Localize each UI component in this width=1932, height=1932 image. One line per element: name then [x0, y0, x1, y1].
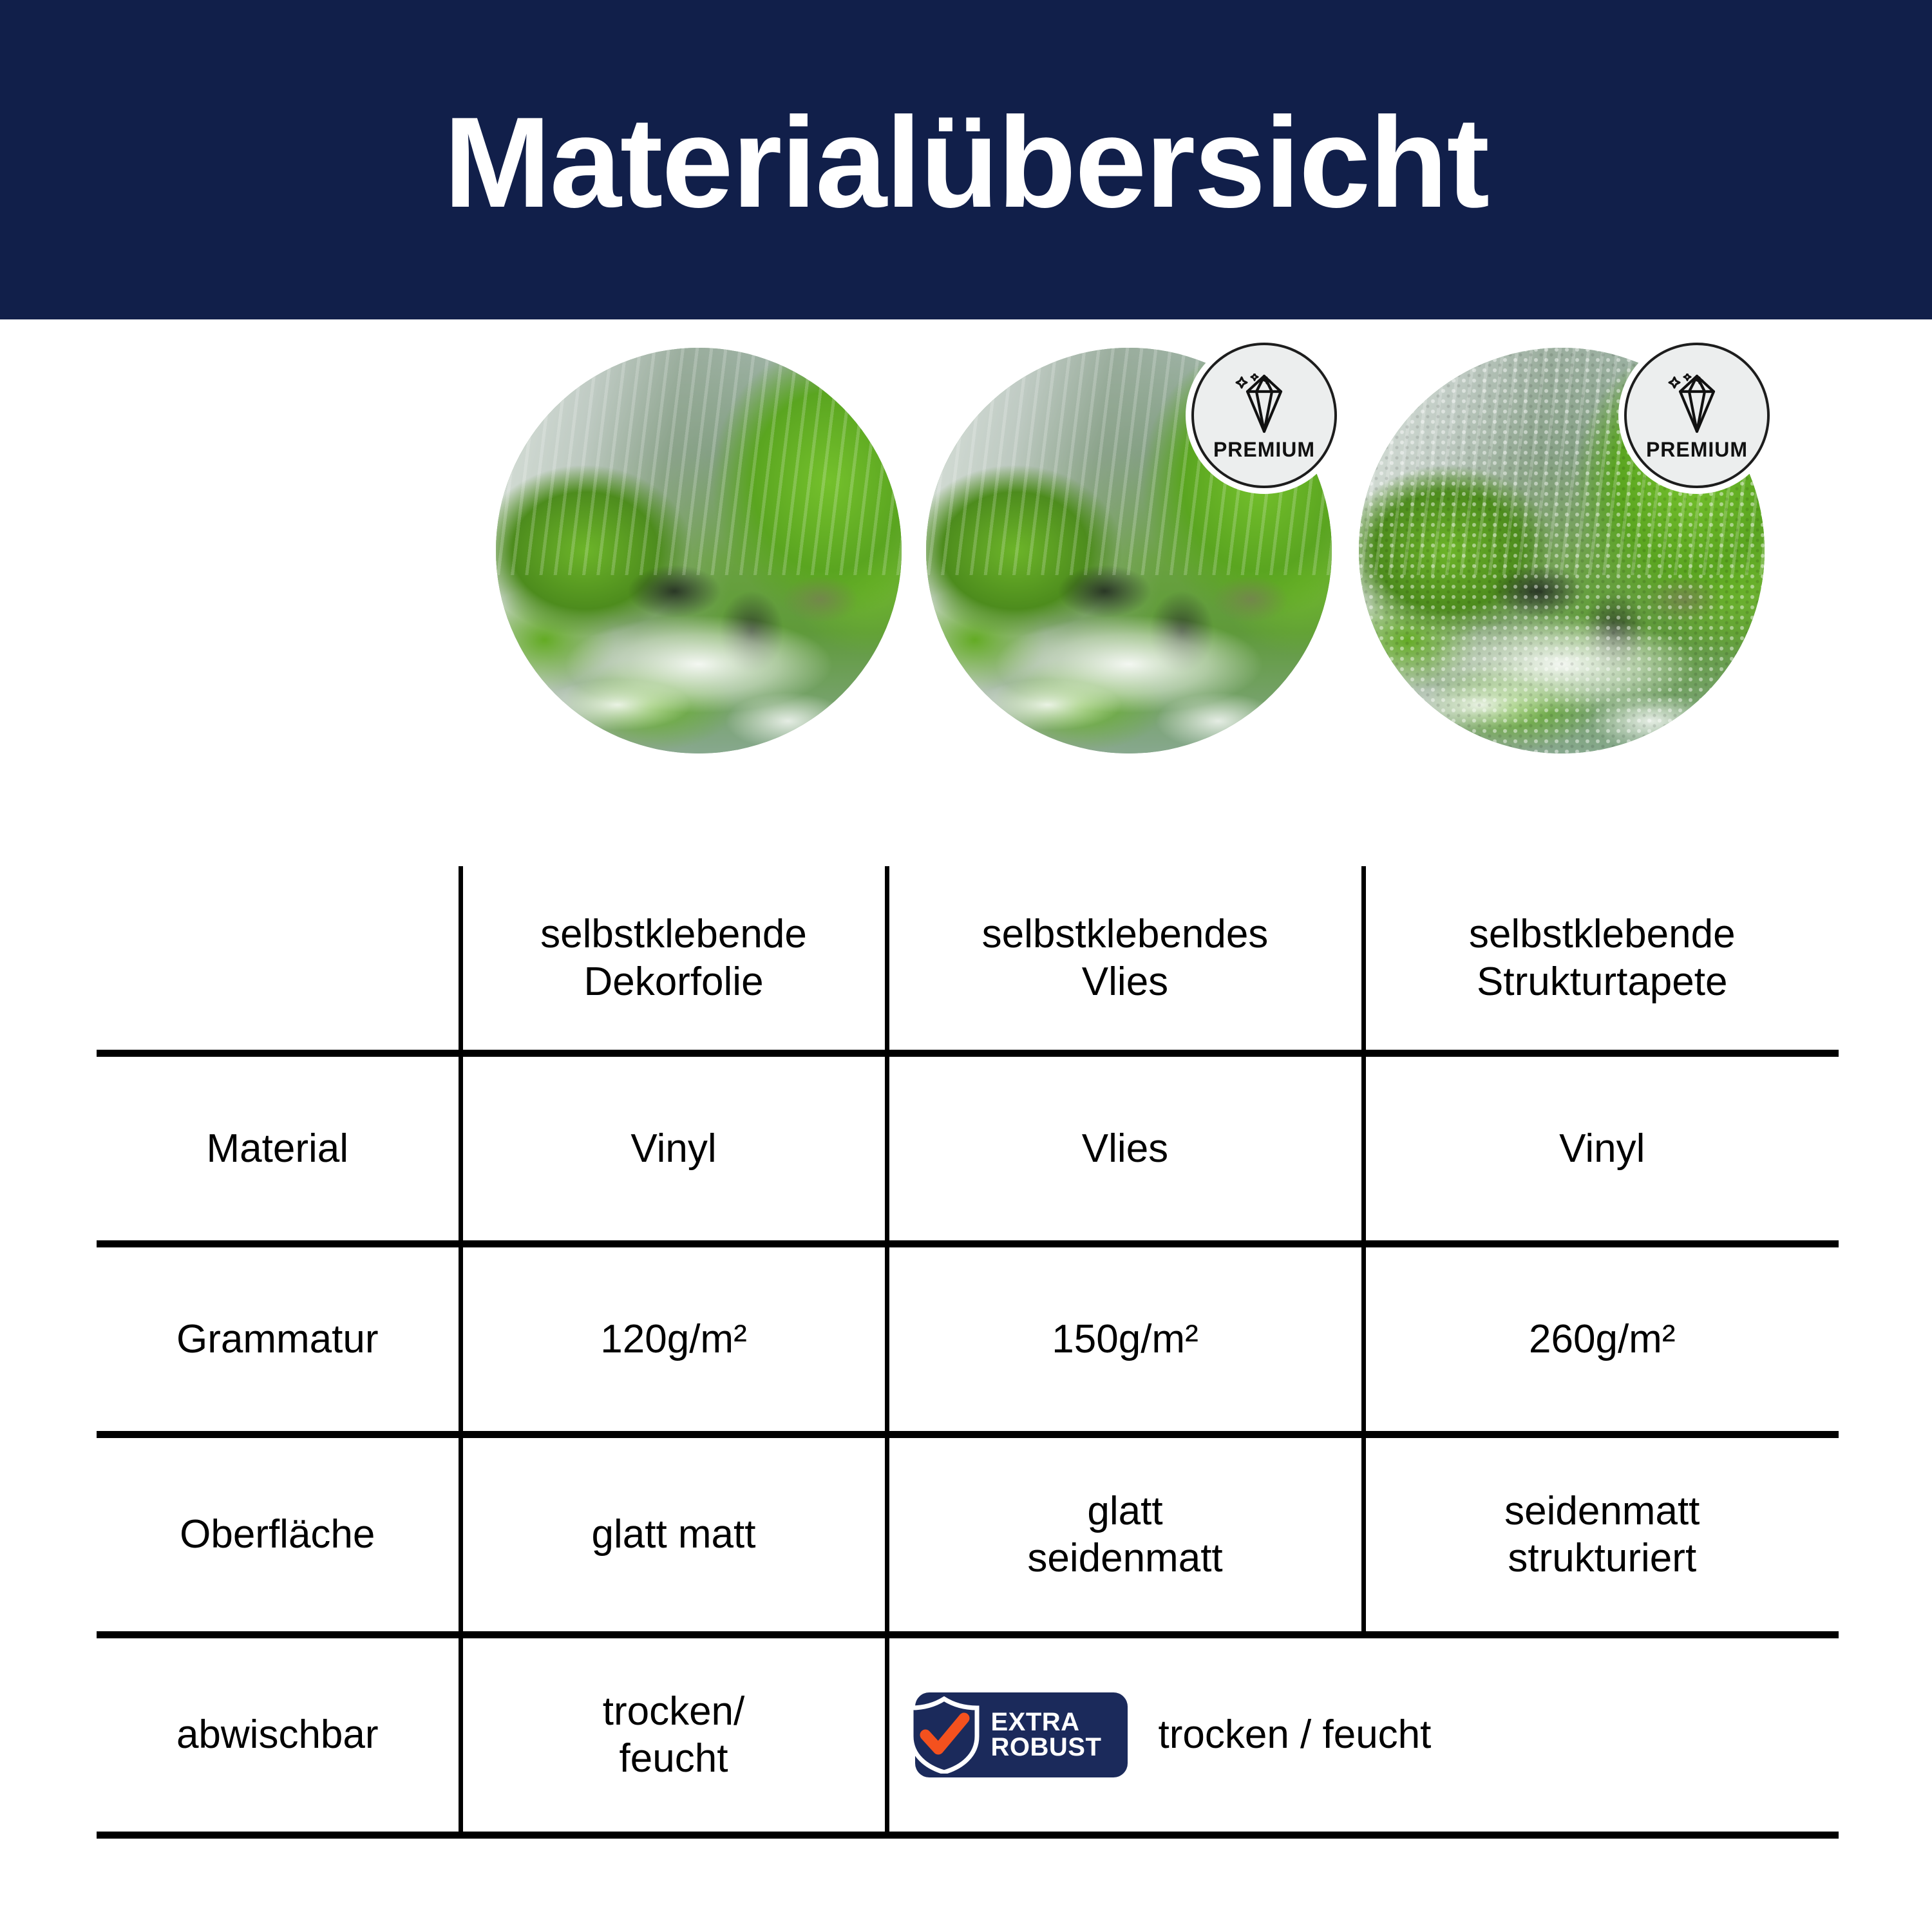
cell-oberflaeche-strukturtapete: seidenmatt strukturiert	[1363, 1435, 1839, 1635]
table-header-row: selbstklebende Dekorfolie selbstklebende…	[97, 866, 1839, 1054]
robust-badge-line1: EXTRA	[991, 1710, 1102, 1735]
cell-line2: seidenmatt	[889, 1535, 1361, 1582]
table-row-abwischbar: abwischbar trocken/ feucht EXTRA ROBUST	[97, 1635, 1839, 1835]
swatch-dekorfolie[interactable]	[496, 348, 902, 753]
cell-line2: feucht	[463, 1735, 885, 1782]
corner-cell	[97, 866, 460, 1054]
cell-abwischbar-merged: EXTRA ROBUST trocken / feucht	[887, 1635, 1839, 1835]
cell-grammatur-dekorfolie: 120g/m²	[460, 1244, 887, 1435]
table-row-oberflaeche: Oberfläche glatt matt glatt seidenmatt s…	[97, 1435, 1839, 1635]
column-header-dekorfolie: selbstklebende Dekorfolie	[460, 866, 887, 1054]
column-header-line1: selbstklebendes	[889, 911, 1361, 958]
cell-grammatur-vlies: 150g/m²	[887, 1244, 1363, 1435]
table-row-material: Material Vinyl Vlies Vinyl	[97, 1054, 1839, 1244]
row-label-oberflaeche: Oberfläche	[97, 1435, 460, 1635]
column-header-line2: Vlies	[889, 958, 1361, 1005]
cell-line2: strukturiert	[1366, 1535, 1839, 1582]
premium-badge: PREMIUM	[1624, 343, 1770, 488]
cell-material-dekorfolie: Vinyl	[460, 1054, 887, 1244]
column-header-line1: selbstklebende	[463, 911, 885, 958]
merged-wipe-text: trocken / feucht	[1159, 1711, 1432, 1758]
cell-material-vlies: Vlies	[887, 1054, 1363, 1244]
waterfall-photo	[496, 348, 902, 753]
robust-badge-line2: ROBUST	[991, 1735, 1102, 1760]
swatch-vlies[interactable]: PREMIUM	[926, 348, 1332, 753]
cell-line1: seidenmatt	[1366, 1488, 1839, 1535]
column-header-strukturtapete: selbstklebende Strukturtapete	[1363, 866, 1839, 1054]
header-bar: Materialübersicht	[0, 0, 1932, 319]
cell-grammatur-strukturtapete: 260g/m²	[1363, 1244, 1839, 1435]
premium-badge: PREMIUM	[1191, 343, 1337, 488]
cell-line1: glatt matt	[463, 1511, 885, 1558]
page-title: Materialübersicht	[444, 99, 1488, 227]
cell-oberflaeche-dekorfolie: glatt matt	[460, 1435, 887, 1635]
material-overview-table: selbstklebende Dekorfolie selbstklebende…	[97, 866, 1839, 1839]
cell-material-strukturtapete: Vinyl	[1363, 1054, 1839, 1244]
cell-line1: trocken/	[463, 1688, 885, 1735]
swatch-image-dekorfolie	[496, 348, 902, 753]
material-swatch-row: PREMIUM PREMIUM	[0, 348, 1932, 786]
column-header-line2: Dekorfolie	[463, 958, 885, 1005]
row-label-material: Material	[97, 1054, 460, 1244]
premium-badge-label: PREMIUM	[1646, 439, 1748, 460]
row-label-grammatur: Grammatur	[97, 1244, 460, 1435]
cell-oberflaeche-vlies: glatt seidenmatt	[887, 1435, 1363, 1635]
cell-line1: glatt	[889, 1488, 1361, 1535]
row-label-abwischbar: abwischbar	[97, 1635, 460, 1835]
column-header-line2: Strukturtapete	[1366, 958, 1839, 1005]
extra-robust-badge: EXTRA ROBUST	[915, 1692, 1128, 1777]
table-row-grammatur: Grammatur 120g/m² 150g/m² 260g/m²	[97, 1244, 1839, 1435]
diamond-icon	[1663, 371, 1730, 435]
swatch-strukturtapete[interactable]: PREMIUM	[1359, 348, 1765, 753]
diamond-icon	[1231, 371, 1298, 435]
column-header-vlies: selbstklebendes Vlies	[887, 866, 1363, 1054]
shield-check-icon	[906, 1696, 982, 1774]
column-header-line1: selbstklebende	[1366, 911, 1839, 958]
premium-badge-label: PREMIUM	[1213, 439, 1315, 460]
cell-abwischbar-dekorfolie: trocken/ feucht	[460, 1635, 887, 1835]
